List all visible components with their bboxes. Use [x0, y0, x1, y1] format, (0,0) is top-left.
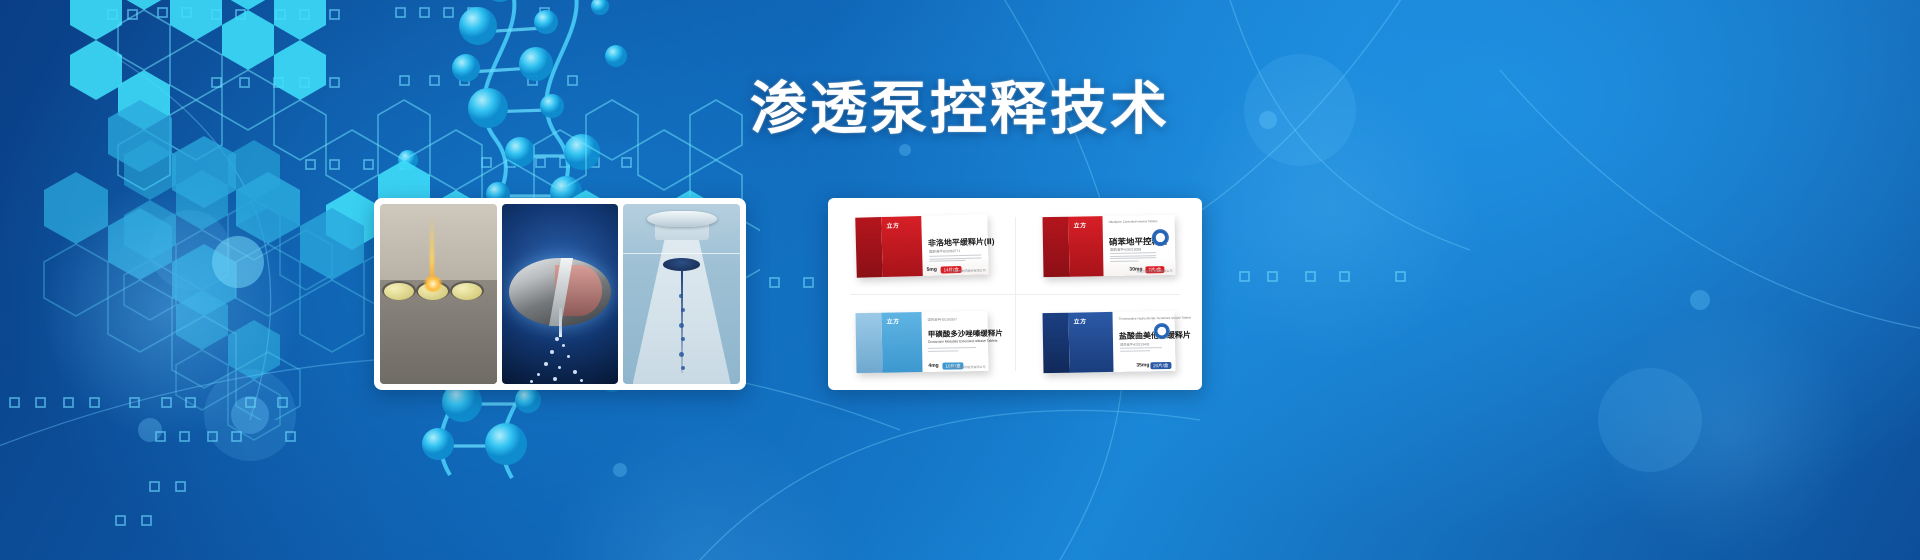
product-approval: 国药准字H20213403	[1119, 341, 1148, 347]
product-cell-felodipine[interactable]: 立方 非洛地平缓释片(Ⅱ) 国药准字H20063771 5mg 14片/盒 合肥…	[828, 198, 1015, 294]
product-manufacturer: 合肥立方制药股份有限公司	[1136, 269, 1172, 274]
banner-title: 渗透泵控释技术	[0, 78, 1920, 141]
hero-banner: 渗透泵控释技术	[0, 0, 1920, 560]
product-approval: 国药准字H20163267	[927, 316, 956, 322]
quality-seal-icon	[1151, 229, 1168, 246]
product-grid-card: 立方 非洛地平缓释片(Ⅱ) 国药准字H20063771 5mg 14片/盒 合肥…	[828, 198, 1202, 390]
product-brand: 立方	[886, 221, 899, 230]
product-manufacturer: 合肥立方制药股份有限公司	[949, 268, 985, 273]
quality-seal-icon	[1153, 323, 1169, 339]
product-tagline: Trimetazidine Hydrochloride Sustained-re…	[1118, 316, 1191, 321]
product-approval: 国药准字H20213008	[1110, 246, 1141, 252]
product-dose: 5mg	[926, 267, 936, 273]
product-cell-doxazosin[interactable]: 立方 国药准字H20163267 甲磺酸多沙唑嗪缓释片 Doxazosin Me…	[828, 294, 1015, 390]
photo-dissolution-flask	[623, 204, 740, 384]
product-approval: 国药准字H20063771	[929, 248, 960, 254]
product-brand: 立方	[1073, 316, 1086, 325]
product-dose: 4mg	[928, 363, 938, 369]
photo-tablet-cross-section	[502, 204, 619, 384]
glow-spot	[1600, 300, 1860, 560]
process-photo-card	[374, 198, 746, 390]
product-cn-name: 非洛地平缓释片(Ⅱ)	[927, 236, 994, 249]
product-en-name: Doxazosin Mesylate Extended-release Tabl…	[927, 339, 997, 344]
product-dose: 35mg	[1136, 362, 1149, 368]
product-pack: 20片/盒	[1150, 362, 1171, 369]
glow-spot	[40, 180, 300, 440]
product-manufacturer: 合肥立方制药股份有限公司	[949, 365, 985, 370]
product-cell-trimetazidine[interactable]: 立方 Trimetazidine Hydrochloride Sustained…	[1015, 294, 1202, 390]
photo-laser-drilling	[380, 204, 497, 384]
product-brand: 立方	[886, 316, 899, 325]
product-brand: 立方	[1073, 220, 1086, 229]
product-cell-nifedipine[interactable]: 立方 Nifedipine Controlled-release Tablets…	[1015, 198, 1202, 294]
product-tagline: Nifedipine Controlled-release Tablets	[1108, 219, 1157, 224]
glow-spot	[540, 420, 860, 560]
